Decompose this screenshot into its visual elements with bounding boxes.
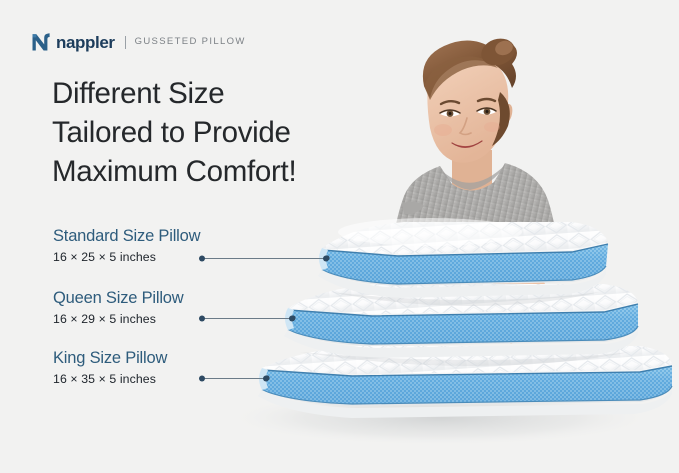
leader-line-king — [198, 374, 270, 383]
size-title-king: King Size Pillow — [53, 348, 167, 369]
size-dimensions-queen: 16 × 29 × 5 inches — [53, 312, 184, 328]
size-annotation-king: King Size Pillow 16 × 35 × 5 inches — [53, 348, 167, 388]
size-title-queen: Queen Size Pillow — [53, 288, 184, 309]
size-annotation-queen: Queen Size Pillow 16 × 29 × 5 inches — [53, 288, 184, 328]
size-annotation-standard: Standard Size Pillow 16 × 25 × 5 inches — [53, 226, 200, 266]
leader-line-standard — [198, 254, 330, 263]
size-title-standard: Standard Size Pillow — [53, 226, 200, 247]
infographic-canvas: nappler GUSSETED PILLOW Different Size T… — [0, 0, 679, 473]
size-annotations: Standard Size Pillow 16 × 25 × 5 inches … — [0, 0, 679, 473]
leader-line-queen — [198, 314, 296, 323]
size-dimensions-king: 16 × 35 × 5 inches — [53, 372, 167, 388]
size-dimensions-standard: 16 × 25 × 5 inches — [53, 250, 200, 266]
